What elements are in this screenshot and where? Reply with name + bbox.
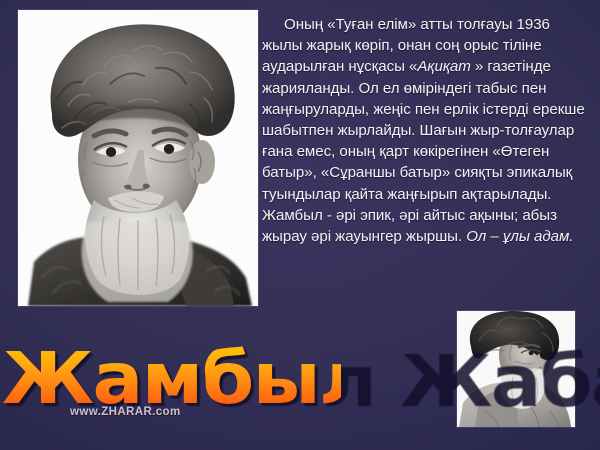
slide-title-wordart: Жамбыл Жабаев Жамбыл Жабаев — [2, 329, 322, 429]
portrait-jambyl-large — [18, 10, 258, 306]
slide-title-text: Жамбыл Жабаев — [2, 329, 341, 429]
body-text-part-2: » газетінде жарияланды. Ол ел өміріндегі… — [262, 58, 585, 245]
slide-body-text: Оның «Туған елім» атты толғауы 1936 жылы… — [262, 14, 592, 247]
body-text-italic-closing: Ол – ұлы адам. — [466, 228, 573, 245]
presentation-slide: Оның «Туған елім» атты толғауы 1936 жылы… — [0, 0, 600, 450]
body-text-italic-akikat: Ақиқат — [417, 58, 470, 75]
